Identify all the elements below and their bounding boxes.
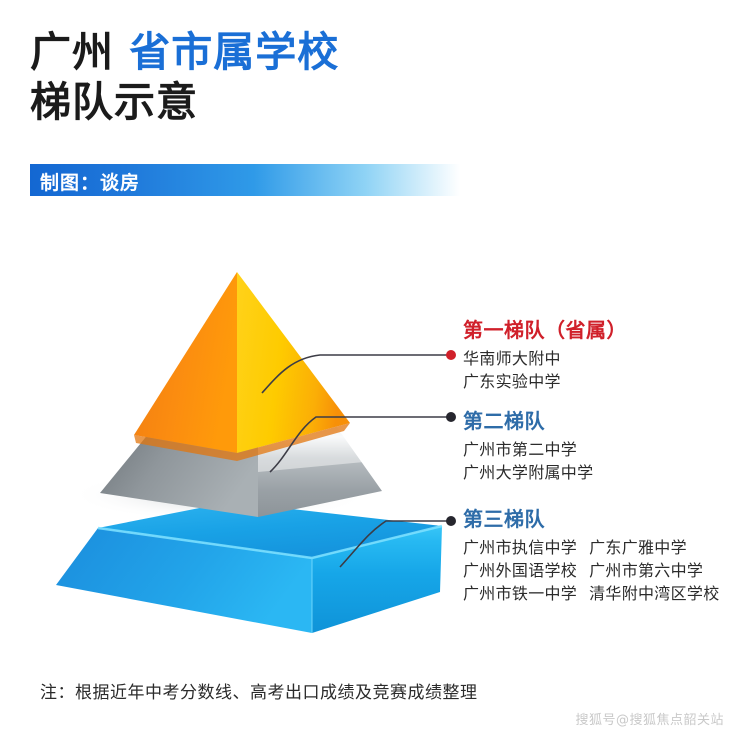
tier-1-school-row: 广东实验中学 <box>463 370 627 393</box>
tier-2-schools: 广州市第二中学 广州大学附属中学 <box>463 438 593 484</box>
credit-label: 制图：谈房 <box>40 168 140 195</box>
school-name: 广东广雅中学 <box>589 538 687 557</box>
footnote: 注：根据近年中考分数线、高考出口成绩及竞赛成绩整理 <box>40 678 478 703</box>
pyramid-illustration <box>20 255 460 655</box>
infographic-page: 广州 省市属学校 梯队示意 制图：谈房 <box>0 0 740 739</box>
school-name: 华南师大附中 <box>463 349 561 368</box>
title-line-2: 梯队示意 <box>30 76 490 128</box>
credit-bar: 制图：谈房 <box>30 164 460 196</box>
tier-3-school-row: 广州外国语学校广州市第六中学 <box>463 559 720 582</box>
callout-tier-1: 第一梯队（省属） 华南师大附中 广东实验中学 <box>463 318 627 393</box>
school-name: 广东实验中学 <box>463 372 561 391</box>
school-name: 广州市第二中学 <box>463 440 577 459</box>
tier-1-schools: 华南师大附中 广东实验中学 <box>463 347 627 393</box>
leader-dot-tier-3 <box>446 516 456 526</box>
school-name: 广州外国语学校 <box>463 561 577 580</box>
top-right-face <box>237 272 350 453</box>
leader-dot-tier-1 <box>446 350 456 360</box>
tier-2-school-row: 广州市第二中学 <box>463 438 593 461</box>
tier-1-school-row: 华南师大附中 <box>463 347 627 370</box>
leader-dot-tier-2 <box>446 412 456 422</box>
school-name: 广州市铁一中学 <box>463 584 577 603</box>
tier-2-school-row: 广州大学附属中学 <box>463 461 593 484</box>
tier-2-title: 第二梯队 <box>463 409 593 433</box>
page-title: 广州 省市属学校 梯队示意 <box>30 28 490 128</box>
tier-1-title: 第一梯队（省属） <box>463 318 627 342</box>
school-name: 广州市执信中学 <box>463 538 577 557</box>
tier-3-school-row: 广州市执信中学广东广雅中学 <box>463 536 720 559</box>
school-name: 广州大学附属中学 <box>463 463 593 482</box>
tier-3-title: 第三梯队 <box>463 507 720 531</box>
top-left-face <box>134 272 237 453</box>
tier-3-schools: 广州市执信中学广东广雅中学 广州外国语学校广州市第六中学 广州市铁一中学清华附中… <box>463 536 720 605</box>
title-city: 广州 <box>30 28 114 76</box>
school-name: 广州市第六中学 <box>589 561 703 580</box>
pyramid-top-gold <box>134 272 350 461</box>
title-line-1: 广州 省市属学校 <box>30 28 490 76</box>
tier-3-school-row: 广州市铁一中学清华附中湾区学校 <box>463 582 720 605</box>
callout-tier-3: 第三梯队 广州市执信中学广东广雅中学 广州外国语学校广州市第六中学 广州市铁一中… <box>463 507 720 605</box>
title-highlight: 省市属学校 <box>129 28 339 76</box>
watermark: 搜狐号@搜狐焦点韶关站 <box>575 709 724 728</box>
callout-tier-2: 第二梯队 广州市第二中学 广州大学附属中学 <box>463 409 593 484</box>
school-name: 清华附中湾区学校 <box>589 584 719 603</box>
